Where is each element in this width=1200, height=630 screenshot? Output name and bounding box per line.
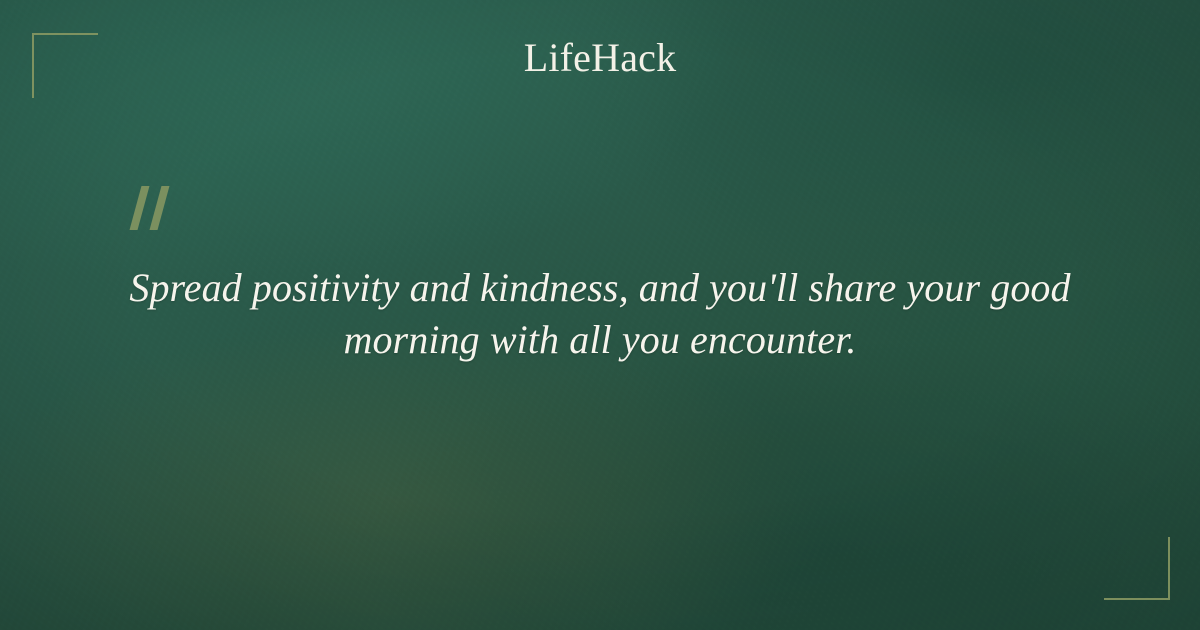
double-quote-icon <box>122 170 202 260</box>
quote-card: LifeHack Spread positivity and kindness,… <box>0 0 1200 630</box>
brand-logo: LifeHack <box>0 38 1200 78</box>
quote-container: Spread positivity and kindness, and you'… <box>100 262 1100 366</box>
quote-text: Spread positivity and kindness, and you'… <box>100 262 1100 366</box>
